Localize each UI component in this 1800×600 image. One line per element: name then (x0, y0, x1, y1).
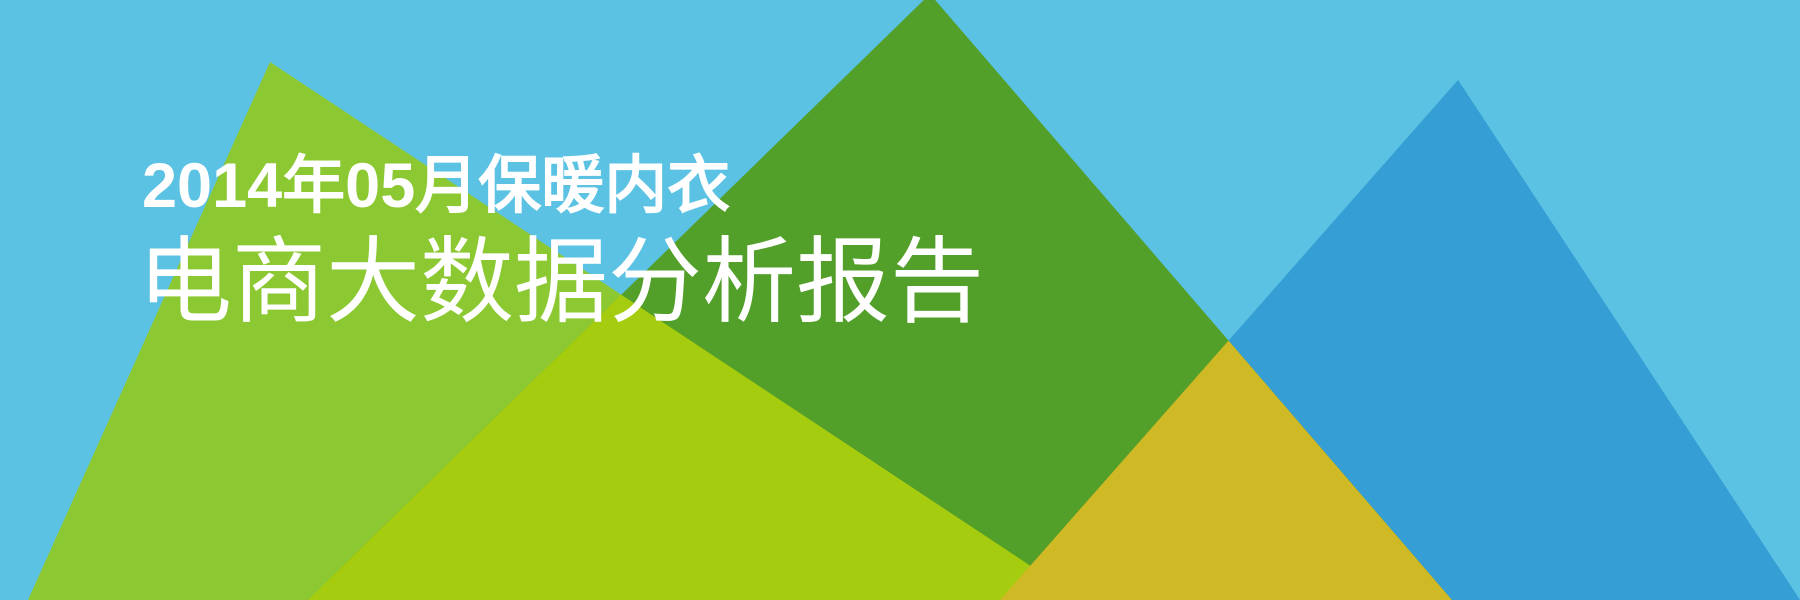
background-mountain-graphic (0, 0, 1800, 600)
report-cover-banner: 2014年05月保暖内衣 电商大数据分析报告 (0, 0, 1800, 600)
